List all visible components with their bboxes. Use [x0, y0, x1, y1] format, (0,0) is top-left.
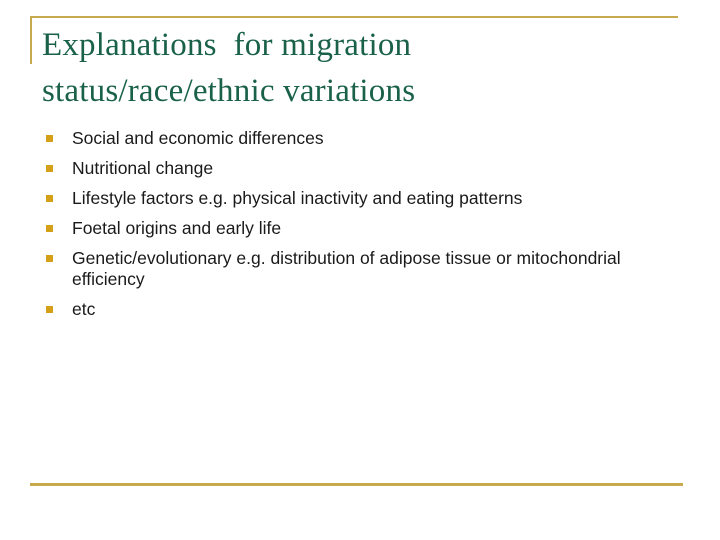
- list-item: Social and economic differences: [42, 128, 682, 149]
- footer-rule: [30, 483, 683, 486]
- list-item: Nutritional change: [42, 158, 682, 179]
- list-item: Foetal origins and early life: [42, 218, 682, 239]
- square-bullet-icon: [46, 306, 53, 313]
- list-item-label: Foetal origins and early life: [72, 218, 682, 239]
- list-item-label: Lifestyle factors e.g. physical inactivi…: [72, 188, 682, 209]
- list-item-label: Genetic/evolutionary e.g. distribution o…: [72, 248, 682, 290]
- square-bullet-icon: [46, 135, 53, 142]
- list-item: Genetic/evolutionary e.g. distribution o…: [42, 248, 682, 290]
- title-top-rule: [30, 16, 678, 18]
- bullet-list: Social and economic differences Nutritio…: [42, 128, 682, 329]
- list-item-label: Nutritional change: [72, 158, 682, 179]
- list-item-label: etc: [72, 299, 682, 320]
- title-line-2: status/race/ethnic variations: [42, 68, 682, 114]
- slide: Explanations for migration status/race/e…: [0, 0, 720, 540]
- square-bullet-icon: [46, 225, 53, 232]
- square-bullet-icon: [46, 195, 53, 202]
- title-line-1: Explanations for migration: [42, 22, 682, 68]
- list-item: etc: [42, 299, 682, 320]
- list-item-label: Social and economic differences: [72, 128, 682, 149]
- square-bullet-icon: [46, 165, 53, 172]
- list-item: Lifestyle factors e.g. physical inactivi…: [42, 188, 682, 209]
- title-left-rule: [30, 16, 32, 64]
- page-title: Explanations for migration status/race/e…: [42, 22, 682, 114]
- square-bullet-icon: [46, 255, 53, 262]
